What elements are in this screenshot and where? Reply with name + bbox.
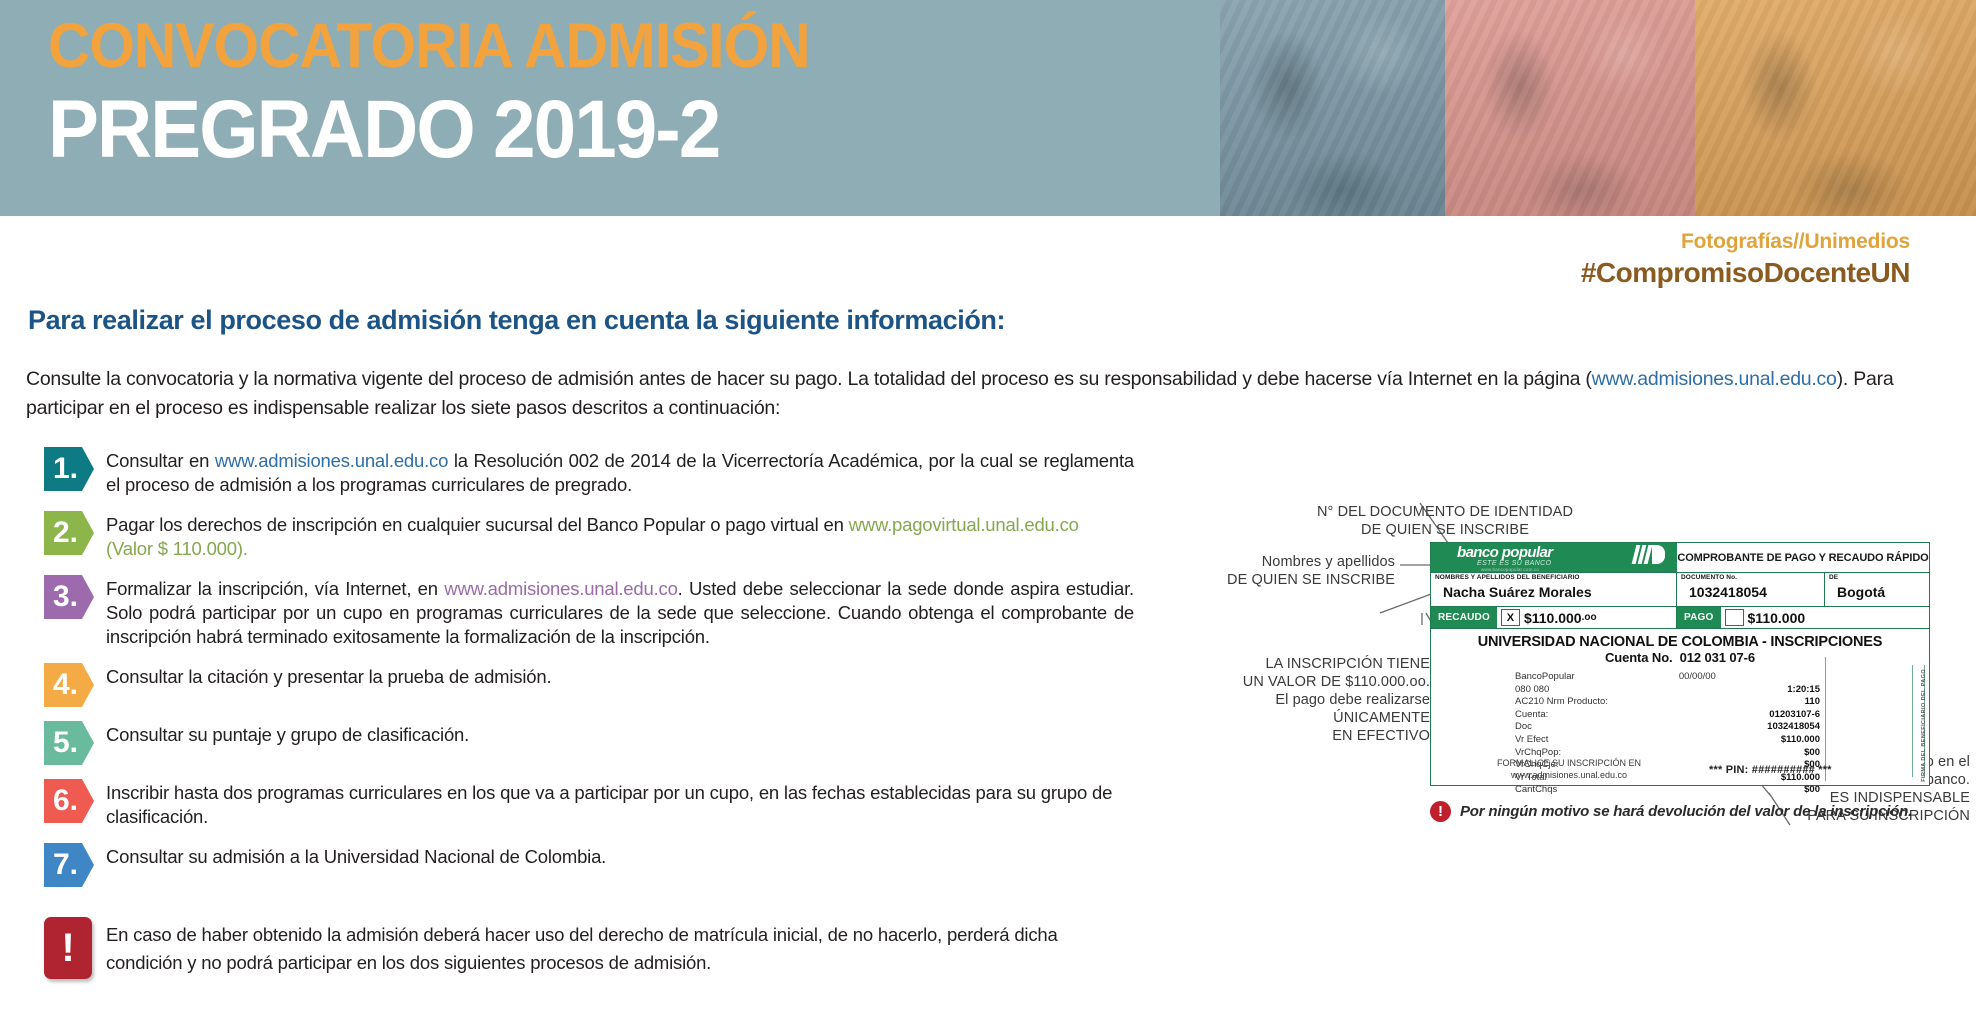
step-text-2: Pagar los derechos de inscripción en cua…: [106, 511, 1134, 561]
steps-list: 1. Consultar en www.admisiones.unal.edu.…: [44, 447, 1134, 901]
recaudo-amount: $110.000.oo: [1524, 607, 1597, 628]
step-3-link[interactable]: www.admisiones.unal.edu.co: [444, 578, 677, 599]
list-item: 7. Consultar su admisión a la Universida…: [44, 843, 1134, 887]
photo-students: [1445, 0, 1695, 216]
list-item: 2. Pagar los derechos de inscripción en …: [44, 511, 1134, 561]
annotation-value: LA INSCRIPCIÓN TIENE UN VALOR DE $110.00…: [1130, 655, 1430, 745]
receipt-title: COMPROBANTE DE PAGO Y RECAUDO RÁPIDO: [1677, 543, 1929, 572]
step-2-text-before: Pagar los derechos de inscripción en cua…: [106, 514, 849, 535]
document-value: 1032418054: [1689, 584, 1767, 600]
exclamation-icon: !: [44, 917, 92, 979]
receipt-payment-row: RECAUDO X $110.000.oo PAGO $110.000: [1431, 607, 1929, 629]
beneficiary-label: NOMBRES Y APELLIDOS DEL BENEFICIARIO: [1435, 574, 1580, 581]
detail-row: AC210 Nrm Producto:110: [1515, 696, 1820, 709]
detail-key: Vr Efect: [1515, 734, 1548, 747]
detail-value: 1032418054: [1767, 721, 1820, 734]
annotation-names: Nombres y apellidos DE QUIEN SE INSCRIBE: [1130, 553, 1395, 589]
account-line: Cuenta No. 012 031 07-6: [1431, 650, 1929, 665]
detail-key: 080 080: [1515, 684, 1549, 697]
bank-slogan: ESTE ES SU BANCO: [1477, 560, 1551, 567]
intro-paragraph: Consulte la convocatoria y la normativa …: [26, 365, 1906, 423]
annotation-document-number: N° DEL DOCUMENTO DE IDENTIDAD DE QUIEN S…: [1280, 503, 1610, 539]
list-item: 6. Inscribir hasta dos programas curricu…: [44, 779, 1134, 829]
detail-row: Doc1032418054: [1515, 721, 1820, 734]
footer-formalize-line1: FORMALICE SU INSCRIPCIÓN EN: [1497, 758, 1641, 770]
warning-box: ! En caso de haber obtenido la admisión …: [44, 917, 1134, 979]
footer-formalize: FORMALICE SU INSCRIPCIÓN EN www.admision…: [1497, 758, 1641, 781]
detail-key: CantChqs: [1515, 784, 1557, 797]
pago-amount: $110.000: [1748, 607, 1806, 628]
refund-notice: ! Por ningún motivo se hará devolución d…: [1430, 801, 1912, 822]
receipt-beneficiary-row: NOMBRES Y APELLIDOS DEL BENEFICIARIO Nac…: [1431, 573, 1929, 607]
photo-classroom: [1695, 0, 1976, 216]
header-banner: CONVOCATORIA ADMISIÓN PREGRADO 2019-2: [0, 0, 1976, 216]
step-text-4: Consultar la citación y presentar la pru…: [106, 663, 1134, 689]
bank-logo-bars-icon: [1634, 545, 1665, 564]
step-badge-2: 2.: [44, 511, 94, 555]
detail-value: 110: [1805, 696, 1820, 709]
list-item: 3. Formalizar la inscripción, vía Intern…: [44, 575, 1134, 649]
step-1-text-before: Consultar en: [106, 450, 215, 471]
step-badge-1: 1.: [44, 447, 94, 491]
recaudo-checkbox[interactable]: X: [1501, 609, 1520, 626]
detail-value: $00: [1804, 784, 1820, 797]
step-text-6: Inscribir hasta dos programas curricular…: [106, 779, 1134, 829]
credits-block: Fotografías//Unimedios #CompromisoDocent…: [1581, 228, 1910, 290]
beneficiary-value: Nacha Suárez Morales: [1443, 584, 1592, 600]
warning-text: En caso de haber obtenido la admisión de…: [106, 917, 1134, 977]
bank-receipt: banco popular ESTE ES SU BANCO www.banco…: [1430, 542, 1930, 786]
alert-circle-icon: !: [1430, 801, 1451, 822]
detail-key: BancoPopular: [1515, 671, 1575, 684]
detail-key: AC210 Nrm Producto:: [1515, 696, 1608, 709]
step-text-5: Consultar su puntaje y grupo de clasific…: [106, 721, 1134, 747]
recaudo-amount-value: $110.000: [1524, 610, 1582, 626]
detail-value: 01203107-6: [1769, 709, 1820, 722]
photo-credit: Fotografías//Unimedios: [1581, 228, 1910, 256]
footer-pin: *** PIN: ########## ***: [1709, 764, 1832, 776]
step-badge-5: 5.: [44, 721, 94, 765]
receipt-header-row: banco popular ESTE ES SU BANCO www.banco…: [1431, 543, 1929, 573]
detail-key: Doc: [1515, 721, 1532, 734]
list-item: 5. Consultar su puntaje y grupo de clasi…: [44, 721, 1134, 765]
receipt-footer: FORMALICE SU INSCRIPCIÓN EN www.admision…: [1431, 758, 1929, 781]
account-label: Cuenta No.: [1605, 650, 1673, 665]
footer-formalize-line2: www.admisiones.unal.edu.co: [1497, 770, 1641, 782]
city-label: DE: [1829, 574, 1838, 581]
step-badge-7: 7.: [44, 843, 94, 887]
banner-titles: CONVOCATORIA ADMISIÓN PREGRADO 2019-2: [48, 8, 1148, 176]
step-3-text-before: Formalizar la inscripción, vía Internet,…: [106, 578, 444, 599]
bank-logo: banco popular ESTE ES SU BANCO www.banco…: [1431, 543, 1677, 572]
detail-row: 080 0801:20:15: [1515, 684, 1820, 697]
step-2-link[interactable]: www.pagovirtual.unal.edu.co: [849, 514, 1079, 535]
pago-group: PAGO $110.000: [1677, 607, 1929, 628]
step-badge-4: 4.: [44, 663, 94, 707]
campaign-hashtag: #CompromisoDocenteUN: [1581, 256, 1910, 290]
beneficiary-cell: NOMBRES Y APELLIDOS DEL BENEFICIARIO Nac…: [1431, 573, 1677, 606]
pago-checkbox[interactable]: [1725, 609, 1744, 626]
recaudo-tag: RECAUDO: [1431, 607, 1497, 628]
recaudo-group: RECAUDO X $110.000.oo: [1431, 607, 1677, 628]
step-badge-6: 6.: [44, 779, 94, 823]
banner-line-1: CONVOCATORIA ADMISIÓN: [48, 8, 1071, 84]
list-item: 1. Consultar en www.admisiones.unal.edu.…: [44, 447, 1134, 497]
step-2-note: (Valor $ 110.000).: [106, 538, 248, 559]
detail-row: BancoPopular00/00/00: [1515, 671, 1820, 684]
bank-url: www.bancopopular.com.co: [1481, 567, 1539, 572]
account-number: 012 031 07-6: [1680, 650, 1755, 665]
detail-row: CantChqs$00: [1515, 784, 1820, 797]
city-value: Bogotá: [1837, 584, 1885, 600]
page-title: Para realizar el proceso de admisión ten…: [28, 305, 1005, 336]
detail-key2: 00/00/00: [1679, 671, 1716, 684]
step-text-7: Consultar su admisión a la Universidad N…: [106, 843, 1134, 869]
refund-notice-text: Por ningún motivo se hará devolución del…: [1460, 803, 1912, 820]
detail-row: Vr Efect$110.000: [1515, 734, 1820, 747]
step-badge-3: 3.: [44, 575, 94, 619]
step-1-link[interactable]: www.admisiones.unal.edu.co: [215, 450, 448, 471]
document-cell: DOCUMENTO No. 1032418054: [1677, 573, 1825, 606]
receipt-diagram: N° DEL DOCUMENTO DE IDENTIDAD DE QUIEN S…: [1130, 495, 1976, 1014]
city-cell: DE Bogotá: [1825, 573, 1929, 606]
detail-row: Cuenta:01203107-6: [1515, 709, 1820, 722]
banner-line-2: PREGRADO 2019-2: [48, 84, 1071, 176]
detail-key: Cuenta:: [1515, 709, 1548, 722]
receipt-body: UNIVERSIDAD NACIONAL DE COLOMBIA - INSCR…: [1431, 629, 1929, 787]
list-item: 4. Consultar la citación y presentar la …: [44, 663, 1134, 707]
intro-text-before: Consulte la convocatoria y la normativa …: [26, 368, 1592, 390]
detail-value: $110.000: [1781, 734, 1820, 747]
organization-name: UNIVERSIDAD NACIONAL DE COLOMBIA - INSCR…: [1431, 629, 1929, 650]
photo-strip: [1220, 0, 1976, 216]
step-text-3: Formalizar la inscripción, vía Internet,…: [106, 575, 1134, 649]
photo-lab: [1220, 0, 1445, 216]
intro-link[interactable]: www.admisiones.unal.edu.co: [1592, 368, 1837, 390]
pago-tag: PAGO: [1677, 607, 1721, 628]
bank-name: banco popular: [1457, 544, 1553, 561]
document-label: DOCUMENTO No.: [1681, 574, 1737, 581]
step-text-1: Consultar en www.admisiones.unal.edu.co …: [106, 447, 1134, 497]
recaudo-amount-cents: .oo: [1582, 612, 1597, 623]
detail-value: 1:20:15: [1787, 684, 1820, 697]
